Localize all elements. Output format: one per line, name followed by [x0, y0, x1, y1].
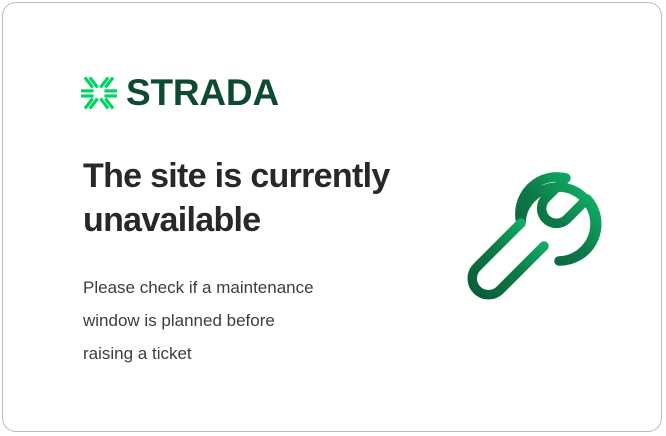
wrench-icon — [455, 151, 615, 315]
brand-name: STRADA — [126, 74, 279, 111]
brand-lockup: STRADA — [81, 74, 279, 111]
page-title: The site is currently unavailable — [83, 155, 413, 242]
status-page-card: STRADA The site is currently unavailable… — [2, 2, 662, 432]
wrench-illustration — [455, 151, 615, 315]
page-description: Please check if a maintenance window is … — [83, 271, 403, 370]
strada-asterisk-icon — [81, 75, 117, 111]
description-line: window is planned before — [83, 304, 403, 337]
description-line: Please check if a maintenance — [83, 271, 403, 304]
description-line: raising a ticket — [83, 337, 403, 370]
